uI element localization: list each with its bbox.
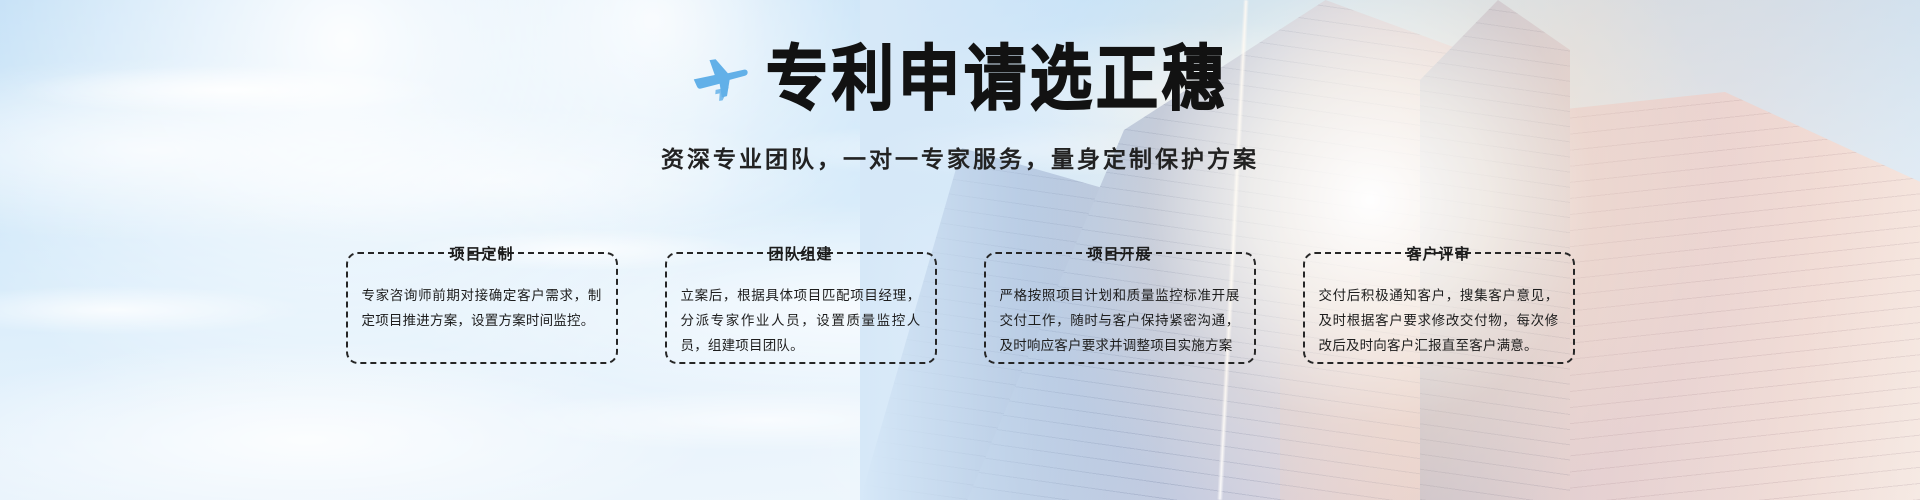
process-card-2-title-text: 团队组建: [756, 243, 844, 264]
process-card-1-body: 专家咨询师前期对接确定客户需求，制定项目推进方案，设置方案时间监控。: [362, 284, 602, 334]
airplane-icon: [692, 57, 748, 107]
page-title: 专利申请选正穗: [766, 44, 1228, 115]
process-card-2-title: 团队组建: [667, 243, 935, 264]
process-card-1-title-text: 项目定制: [437, 243, 525, 264]
process-card-3-title-text: 项目开展: [1075, 243, 1163, 264]
process-card-2[interactable]: 团队组建 立案后，根据具体项目匹配项目经理，分派专家作业人员，设置质量监控人员，…: [665, 252, 937, 364]
process-card-1[interactable]: 项目定制 专家咨询师前期对接确定客户需求，制定项目推进方案，设置方案时间监控。: [346, 252, 618, 364]
process-card-3-body: 严格按照项目计划和质量监控标准开展交付工作，随时与客户保持紧密沟通，及时响应客户…: [1000, 284, 1240, 359]
process-card-4-title-text: 客户评审: [1394, 243, 1482, 264]
promo-banner: 专利申请选正穗 资深专业团队，一对一专家服务，量身定制保护方案 项目定制 专家咨…: [0, 0, 1920, 500]
process-card-2-body: 立案后，根据具体项目匹配项目经理，分派专家作业人员，设置质量监控人员，组建项目团…: [681, 284, 921, 359]
process-card-1-title: 项目定制: [348, 243, 616, 264]
process-card-3-title: 项目开展: [986, 243, 1254, 264]
headline-row: 专利申请选正穗: [0, 48, 1920, 110]
process-card-list: 项目定制 专家咨询师前期对接确定客户需求，制定项目推进方案，设置方案时间监控。 …: [0, 252, 1920, 364]
process-card-4-title: 客户评审: [1305, 243, 1573, 264]
process-card-4[interactable]: 客户评审 交付后积极通知客户，搜集客户意见，及时根据客户要求修改交付物，每次修改…: [1303, 252, 1575, 364]
process-card-3[interactable]: 项目开展 严格按照项目计划和质量监控标准开展交付工作，随时与客户保持紧密沟通，及…: [984, 252, 1256, 364]
banner-content: 专利申请选正穗 资深专业团队，一对一专家服务，量身定制保护方案 项目定制 专家咨…: [0, 0, 1920, 500]
page-subtitle: 资深专业团队，一对一专家服务，量身定制保护方案: [0, 140, 1920, 174]
process-card-4-body: 交付后积极通知客户，搜集客户意见，及时根据客户要求修改交付物，每次修改后及时向客…: [1319, 284, 1559, 359]
